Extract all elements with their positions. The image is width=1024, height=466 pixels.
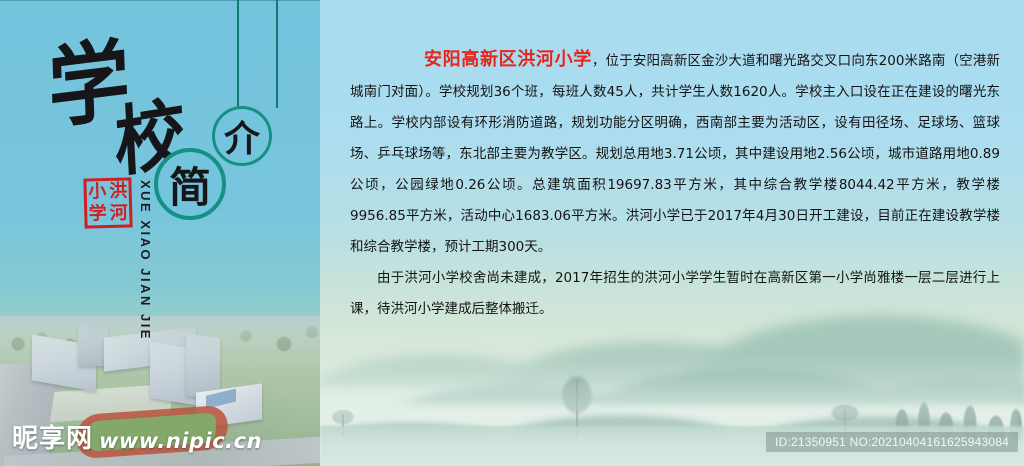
seal-char-3: 学 [87, 203, 109, 226]
school-aerial-rendering-image [0, 316, 320, 466]
seal-char-2: 洪 [107, 180, 129, 203]
circle-badge-jian: 简 [154, 148, 226, 220]
pinyin-vertical-label: XUE XIAO JIAN JIE [138, 180, 153, 341]
seal-char-4: 河 [108, 202, 130, 225]
article-paragraph-1-body: ，位于安阳高新区金沙大道和曙光路交叉口向东200米路南（空港新城南门对面）。学校… [350, 53, 1000, 255]
left-title-panel: 学 校 简 介 小 洪 学 河 XUE XIAO JIAN JIE 昵享网 ww… [0, 0, 320, 466]
panel-top-hairline [0, 0, 320, 1]
red-seal-stamp: 小 洪 学 河 [83, 177, 132, 228]
article-paragraph-2: 由于洪河小学校舍尚未建成，2017年招生的洪河小学学生暂时在高新区第一小学尚雅楼… [350, 263, 1000, 325]
right-content-panel: 安阳高新区洪河小学，位于安阳高新区金沙大道和曙光路交叉口向东200米路南（空港新… [320, 0, 1024, 466]
image-id-badge: ID:21350951 NO:20210404161625943084 [766, 432, 1018, 452]
school-introduction-article: 安阳高新区洪河小学，位于安阳高新区金沙大道和曙光路交叉口向东200米路南（空港新… [350, 44, 1000, 325]
poster-canvas: 学 校 简 介 小 洪 学 河 XUE XIAO JIAN JIE 昵享网 ww… [0, 0, 1024, 466]
circle-badge-jie: 介 [212, 106, 272, 166]
school-name-heading: 安阳高新区洪河小学 [350, 49, 592, 70]
hanging-line-right [276, 0, 278, 108]
seal-char-1: 小 [86, 181, 108, 204]
article-paragraph-1: 安阳高新区洪河小学，位于安阳高新区金沙大道和曙光路交叉口向东200米路南（空港新… [350, 44, 1000, 263]
aerial-haze-overlay [0, 316, 320, 466]
